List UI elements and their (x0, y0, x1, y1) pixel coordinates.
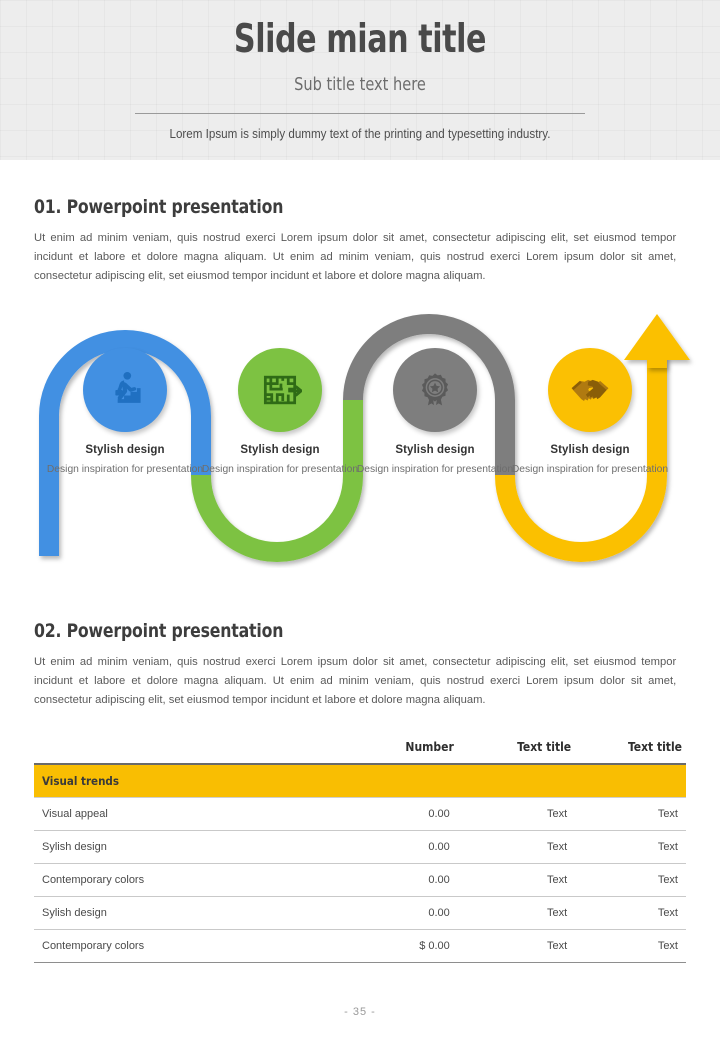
header-content: Slide mian title Sub title text here Lor… (0, 0, 720, 141)
step-item-2[interactable]: Stylish design Design inspiration for pr… (200, 348, 360, 477)
row-4-text2: Text (575, 930, 686, 963)
row-0-label: Visual appeal (34, 798, 327, 831)
step-3-title: Stylish design (355, 444, 515, 456)
table-band-row: Visual trends (34, 764, 686, 798)
row-3-text1: Text (458, 897, 575, 930)
maze-exit-icon (258, 368, 302, 412)
step-4-description: Design inspiration for presentation (510, 462, 670, 477)
process-snake-diagram: Stylish design Design inspiration for pr… (22, 308, 702, 568)
step-2-circle[interactable] (238, 348, 322, 432)
award-ribbon-icon (415, 370, 455, 410)
step-2-description: Design inspiration for presentation (200, 462, 360, 477)
row-1-label: Sylish design (34, 831, 327, 864)
table-head: Number Text title Text title (34, 738, 686, 764)
step-item-1[interactable]: Stylish design Design inspiration for pr… (45, 348, 205, 477)
table-col-header-3: Text title (575, 738, 686, 764)
page-number: - 35 - (0, 1006, 720, 1018)
row-2-text1: Text (458, 864, 575, 897)
step-item-4[interactable]: Stylish design Design inspiration for pr… (510, 348, 670, 477)
step-3-circle[interactable] (393, 348, 477, 432)
table-body: Visual appeal 0.00 Text Text Sylish desi… (34, 798, 686, 963)
table-row[interactable]: Visual appeal 0.00 Text Text (34, 798, 686, 831)
section-01: 01. Powerpoint presentation Ut enim ad m… (34, 196, 686, 286)
section-01-heading: 01. Powerpoint presentation (34, 196, 634, 218)
row-0-text1: Text (458, 798, 575, 831)
row-3-text2: Text (575, 897, 686, 930)
data-table: Number Text title Text title Visual tren… (34, 738, 686, 963)
step-2-title: Stylish design (200, 444, 360, 456)
header-description: Lorem Ipsum is simply dummy text of the … (25, 127, 695, 141)
table-col-header-2: Text title (458, 738, 575, 764)
step-list: Stylish design Design inspiration for pr… (22, 308, 702, 568)
row-1-text2: Text (575, 831, 686, 864)
step-item-3[interactable]: Stylish design Design inspiration for pr… (355, 348, 515, 477)
row-4-label: Contemporary colors (34, 930, 327, 963)
table-band: Visual trends (34, 764, 686, 798)
row-2-number: 0.00 (327, 864, 457, 897)
step-3-description: Design inspiration for presentation (355, 462, 515, 477)
table-col-header-1: Number (327, 738, 457, 764)
handshake-icon (568, 368, 612, 412)
table-row[interactable]: Contemporary colors $ 0.00 Text Text (34, 930, 686, 963)
page-title: Slide mian title (50, 18, 669, 62)
header-divider (135, 113, 585, 114)
table-band-label: Visual trends (34, 764, 686, 798)
step-4-circle[interactable] (548, 348, 632, 432)
row-1-number: 0.00 (327, 831, 457, 864)
table-header-row: Number Text title Text title (34, 738, 686, 764)
section-02-body: Ut enim ad minim veniam, quis nostrud ex… (34, 653, 676, 710)
row-2-text2: Text (575, 864, 686, 897)
row-1-text1: Text (458, 831, 575, 864)
row-3-label: Sylish design (34, 897, 327, 930)
page-subtitle: Sub title text here (36, 74, 684, 95)
step-1-description: Design inspiration for presentation (45, 462, 205, 477)
slide-header: Slide mian title Sub title text here Lor… (0, 0, 720, 160)
section-01-body: Ut enim ad minim veniam, quis nostrud ex… (34, 229, 676, 286)
table-row[interactable]: Sylish design 0.00 Text Text (34, 831, 686, 864)
table-row[interactable]: Sylish design 0.00 Text Text (34, 897, 686, 930)
section-02: 02. Powerpoint presentation Ut enim ad m… (34, 620, 686, 710)
row-0-number: 0.00 (327, 798, 457, 831)
data-table-container: Number Text title Text title Visual tren… (34, 738, 686, 963)
slide: Slide mian title Sub title text here Lor… (0, 0, 720, 1040)
businessman-stairs-icon (103, 368, 147, 412)
row-4-number: $ 0.00 (327, 930, 457, 963)
table-col-header-0 (34, 738, 327, 764)
step-1-title: Stylish design (45, 444, 205, 456)
row-0-text2: Text (575, 798, 686, 831)
row-4-text1: Text (458, 930, 575, 963)
row-2-label: Contemporary colors (34, 864, 327, 897)
section-02-heading: 02. Powerpoint presentation (34, 620, 634, 642)
table-row[interactable]: Contemporary colors 0.00 Text Text (34, 864, 686, 897)
step-1-circle[interactable] (83, 348, 167, 432)
row-3-number: 0.00 (327, 897, 457, 930)
step-4-title: Stylish design (510, 444, 670, 456)
